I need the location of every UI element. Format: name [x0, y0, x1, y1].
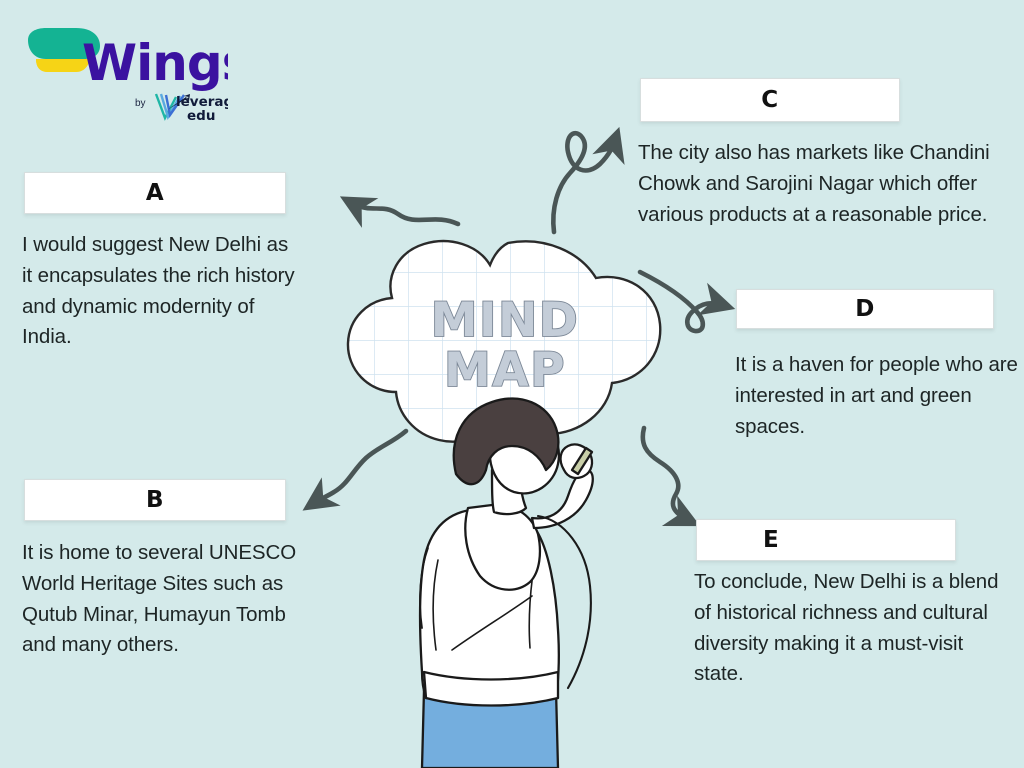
node-text-d: It is a haven for people who are interes… — [735, 350, 1024, 442]
node-letter-c: C — [761, 87, 778, 113]
node-letter-b: B — [146, 487, 164, 513]
node-letter-d: D — [855, 296, 875, 322]
mind-map-infographic: Wings by leverage edu — [0, 0, 1024, 768]
node-text-a: I would suggest New Delhi as it encapsul… — [22, 230, 298, 353]
node-label-box-d[interactable]: D — [736, 289, 994, 329]
arrow-to-a — [352, 203, 458, 224]
node-label-box-c[interactable]: C — [640, 78, 900, 122]
node-label-box-e[interactable]: E — [696, 519, 956, 561]
cloud-title-line1: MIND — [431, 293, 580, 348]
node-label-box-b[interactable]: B — [24, 479, 286, 521]
person-figure — [420, 398, 593, 768]
cloud-title-line2: MAP — [444, 343, 566, 398]
node-text-e: To conclude, New Delhi is a blend of his… — [694, 567, 1006, 690]
cloud-title: MIND MAP — [431, 293, 580, 398]
node-text-c: The city also has markets like Chandini … — [638, 138, 1024, 230]
node-letter-a: A — [146, 180, 164, 206]
arrow-to-b — [314, 431, 406, 503]
arrow-to-c — [553, 133, 615, 232]
arrow-to-e — [643, 428, 688, 520]
node-letter-e: E — [763, 527, 779, 553]
node-text-b: It is home to several UNESCO World Herit… — [22, 538, 322, 661]
node-label-box-a[interactable]: A — [24, 172, 286, 214]
